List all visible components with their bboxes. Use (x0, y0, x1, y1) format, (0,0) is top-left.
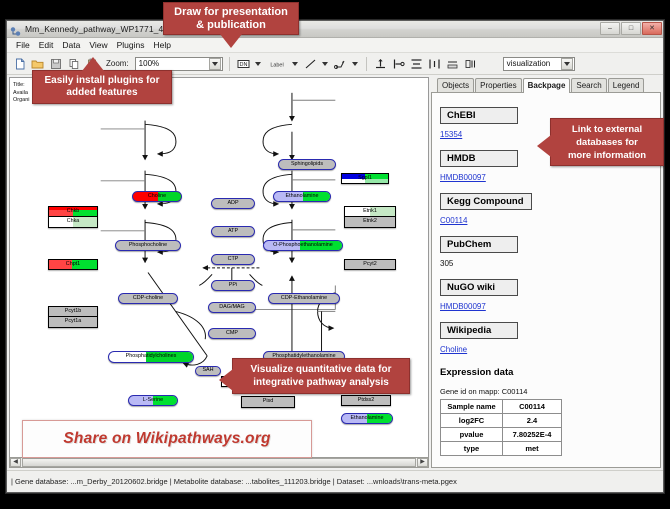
table-row: log2FC 2.4 (441, 414, 562, 428)
db-header-nugo-wiki: NuGO wiki (440, 279, 518, 296)
node-ctp[interactable]: CTP (211, 254, 255, 265)
horizontal-scrollbar[interactable]: ◀ ▶ (9, 457, 429, 468)
visualization-value: visualization (507, 59, 551, 68)
external-links-callout-text: Link to external databases for more info… (568, 123, 646, 162)
visualize-callout: Visualize quantitative data for integrat… (232, 358, 410, 394)
line-icon[interactable] (303, 56, 318, 71)
zoom-label: Zoom: (106, 59, 129, 68)
draw-callout: Draw for presentation & publication (163, 2, 299, 35)
status-bar: | Gene database: ...m_Derby_20120602.bri… (7, 470, 663, 492)
interaction-dropdown-icon[interactable] (351, 57, 360, 71)
toolbar-separator (229, 57, 230, 71)
node-label: Pcyt2 (363, 262, 376, 267)
node-label: CTP (228, 257, 239, 262)
node-label: O-Phosphoethanolamine (273, 243, 333, 248)
row-value: 7.80252E-4 (503, 428, 562, 442)
sidebar-tabstrip: Objects Properties Backpage Search Legen… (431, 77, 661, 93)
db-entry-pubchem: PubChem 305 (440, 236, 652, 271)
node-dag-mag[interactable]: DAG/MAG (208, 302, 256, 313)
row-key: type (441, 442, 503, 456)
node-label: CDP-choline (133, 296, 163, 301)
screenshot-root: Mm_Kennedy_pathway_WP1771_45176.gpml – □… (0, 0, 670, 509)
visualization-combo[interactable]: visualization (503, 57, 575, 71)
plugins-callout-text: Easily install plugins for added feature… (44, 75, 159, 99)
external-links-callout: Link to external databases for more info… (550, 118, 664, 166)
db-link-kegg-compound[interactable]: C00114 (440, 216, 467, 225)
node-label: DAG/MAG (219, 305, 244, 310)
datanode-icon[interactable]: DN (236, 56, 251, 71)
node-ptdss2[interactable]: Ptdss2 (341, 395, 391, 406)
node-ethanolamine-bottom[interactable]: Ethanolamine (341, 413, 393, 424)
node-atp[interactable]: ATP (211, 226, 255, 237)
plugins-callout: Easily install plugins for added feature… (32, 70, 172, 104)
node-label: Ethanolamine (286, 194, 319, 199)
app-icon (10, 24, 21, 35)
db-header-kegg-compound: Kegg Compound (440, 193, 532, 210)
menu-item-view[interactable]: View (85, 39, 111, 51)
row-value: 2.4 (503, 414, 562, 428)
expression-table: Sample name C00114 log2FC 2.4 pvalue 7.8… (440, 399, 562, 456)
node-label: L-Serine (143, 398, 163, 403)
menu-item-edit[interactable]: Edit (35, 39, 58, 51)
expression-data-title: Expression data (440, 367, 652, 378)
zoom-value: 100% (139, 59, 159, 68)
db-link-hmdb[interactable]: HMDB00097 (440, 173, 486, 182)
label-dropdown-icon[interactable] (291, 57, 300, 71)
node-ppi[interactable]: PPi (211, 280, 255, 291)
title-bar: Mm_Kennedy_pathway_WP1771_45176.gpml – □… (7, 21, 663, 38)
table-row: type met (441, 442, 562, 456)
datanode-dropdown-icon[interactable] (254, 57, 263, 71)
db-value-pubchem: 305 (440, 259, 453, 268)
node-chka[interactable]: Chka (48, 217, 98, 228)
node-chkb[interactable]: Chkb (48, 206, 98, 217)
draw-callout-arrow-icon (220, 34, 242, 48)
db-entry-kegg: Kegg Compound C00114 (440, 193, 652, 228)
node-label: Pcyt1b (65, 309, 81, 314)
row-value: met (503, 442, 562, 456)
chevron-down-icon[interactable] (209, 58, 221, 70)
share-callout-text: Share on Wikipathways.org (63, 430, 270, 448)
db-header-wikipedia: Wikipedia (440, 322, 518, 339)
close-button[interactable]: ✕ (642, 22, 662, 35)
distribute-horizontal-icon[interactable] (427, 56, 442, 71)
visualize-callout-arrow-icon (219, 369, 233, 391)
node-pisd[interactable]: Pisd (241, 396, 295, 408)
menu-bar: File Edit Data View Plugins Help (7, 38, 663, 53)
node-label: Phosphatidylcholines (126, 354, 177, 359)
node-label: Ethanolamine (351, 416, 384, 421)
tab-search[interactable]: Search (571, 78, 606, 92)
node-label: CDP-Ethanolamine (281, 296, 327, 301)
table-row: Sample name C00114 (441, 400, 562, 414)
draw-callout-text: Draw for presentation & publication (174, 6, 288, 32)
node-label: Pcyt1a (65, 319, 81, 324)
align-top-icon[interactable] (373, 56, 388, 71)
node-label: Sgpl1 (358, 176, 372, 181)
node-label: SAH (202, 368, 213, 373)
db-link-wikipedia[interactable]: Choline (440, 345, 467, 354)
node-label: Etnk2 (363, 219, 377, 224)
external-links-callout-arrow-icon (537, 135, 551, 157)
size-icon[interactable] (463, 56, 478, 71)
toolbar-separator-2 (366, 57, 367, 71)
db-link-chebi[interactable]: 15354 (440, 130, 462, 139)
status-text: | Gene database: ...m_Derby_20120602.bri… (11, 477, 457, 486)
share-callout: Share on Wikipathways.org (22, 420, 312, 458)
window-controls: – □ ✕ (600, 22, 662, 35)
node-label: ATP (228, 229, 238, 234)
node-sah[interactable]: SAH (195, 366, 221, 376)
node-cmp[interactable]: CMP (208, 328, 256, 339)
node-label: Chpt1 (66, 262, 80, 267)
zoom-combo[interactable]: 100% (135, 57, 223, 71)
node-label: PPi (229, 283, 237, 288)
node-choline-top[interactable]: Choline (132, 191, 182, 202)
node-ethanolamine-top[interactable]: Ethanolamine (273, 191, 331, 202)
node-label: Sphingolipids (291, 162, 323, 167)
node-pcyt1b[interactable]: Pcyt1b (48, 306, 98, 317)
tab-legend[interactable]: Legend (608, 78, 645, 92)
node-l-serine-left[interactable]: L-Serine (128, 395, 178, 406)
plugins-callout-arrow-icon (82, 57, 104, 71)
visualization-chevron-down-icon[interactable] (561, 58, 573, 70)
distribute-vertical-icon[interactable] (409, 56, 424, 71)
node-pcyt2[interactable]: Pcyt2 (344, 259, 396, 270)
line-dropdown-icon[interactable] (321, 57, 330, 71)
label-icon[interactable]: Label (266, 56, 288, 71)
node-o-phosphoethanolamine[interactable]: O-Phosphoethanolamine (263, 240, 343, 251)
maximize-button[interactable]: □ (621, 22, 641, 35)
menu-item-data[interactable]: Data (58, 39, 84, 51)
db-link-nugo-wiki[interactable]: HMDB00097 (440, 302, 486, 311)
visualize-callout-text: Visualize quantitative data for integrat… (251, 363, 392, 389)
node-pcyt1a[interactable]: Pcyt1a (48, 317, 98, 328)
svg-text:DN: DN (239, 62, 247, 68)
node-etnk2[interactable]: Etnk2 (344, 217, 396, 228)
db-header-chebi: ChEBI (440, 107, 518, 124)
node-chpt1[interactable]: Chpt1 (48, 259, 98, 270)
scrollbar-thumb[interactable] (22, 458, 416, 467)
node-etnk1[interactable]: Etnk1 (344, 206, 396, 217)
node-label: Chkb (67, 209, 80, 214)
copy-icon[interactable] (66, 56, 81, 71)
svg-text:Label: Label (270, 62, 283, 68)
node-label: Choline (148, 194, 166, 199)
menu-item-help[interactable]: Help (150, 39, 175, 51)
row-key: Sample name (441, 400, 503, 414)
gene-id-line: Gene id on mapp: C00114 (440, 387, 652, 396)
node-label: CMP (226, 331, 238, 336)
node-cdp-ethanolamine[interactable]: CDP-Ethanolamine (268, 293, 340, 304)
node-sphingolipids[interactable]: Sphingolipids (278, 159, 336, 170)
node-label: Etnk1 (363, 209, 377, 214)
node-label: ADP (227, 201, 238, 206)
node-sgpl1[interactable]: Sgpl1 (341, 173, 389, 184)
stack-icon[interactable] (445, 56, 460, 71)
interaction-icon[interactable] (333, 56, 348, 71)
node-cdp-choline[interactable]: CDP-choline (118, 293, 178, 304)
pathway-edges (10, 78, 428, 467)
open-folder-icon[interactable] (30, 56, 45, 71)
db-entry-nugo: NuGO wiki HMDB00097 (440, 279, 652, 314)
scroll-right-icon[interactable]: ▶ (417, 458, 428, 467)
align-left-icon[interactable] (391, 56, 406, 71)
tab-backpage[interactable]: Backpage (523, 78, 571, 93)
node-adp[interactable]: ADP (211, 198, 255, 209)
scroll-left-icon[interactable]: ◀ (10, 458, 21, 467)
node-label: Chka (67, 219, 80, 224)
minimize-button[interactable]: – (600, 22, 620, 35)
save-icon[interactable] (48, 56, 63, 71)
new-file-icon[interactable] (12, 56, 27, 71)
node-phosphatidylcholines[interactable]: Phosphatidylcholines (108, 351, 194, 363)
tab-properties[interactable]: Properties (475, 78, 521, 92)
node-label: Pisd (263, 399, 274, 404)
node-label: Ptdss2 (358, 398, 374, 403)
node-phosphocholine[interactable]: Phosphocholine (115, 240, 181, 251)
pathway-canvas[interactable]: Title: Availa Organi (9, 77, 429, 468)
menu-item-plugins[interactable]: Plugins (113, 39, 149, 51)
row-key: log2FC (441, 414, 503, 428)
row-value: C00114 (503, 400, 562, 414)
menu-item-file[interactable]: File (12, 39, 34, 51)
db-header-pubchem: PubChem (440, 236, 518, 253)
table-row: pvalue 7.80252E-4 (441, 428, 562, 442)
tab-objects[interactable]: Objects (437, 78, 474, 92)
row-key: pvalue (441, 428, 503, 442)
db-header-hmdb: HMDB (440, 150, 518, 167)
node-label: Phosphocholine (129, 243, 167, 248)
db-entry-wikipedia: Wikipedia Choline (440, 322, 652, 357)
